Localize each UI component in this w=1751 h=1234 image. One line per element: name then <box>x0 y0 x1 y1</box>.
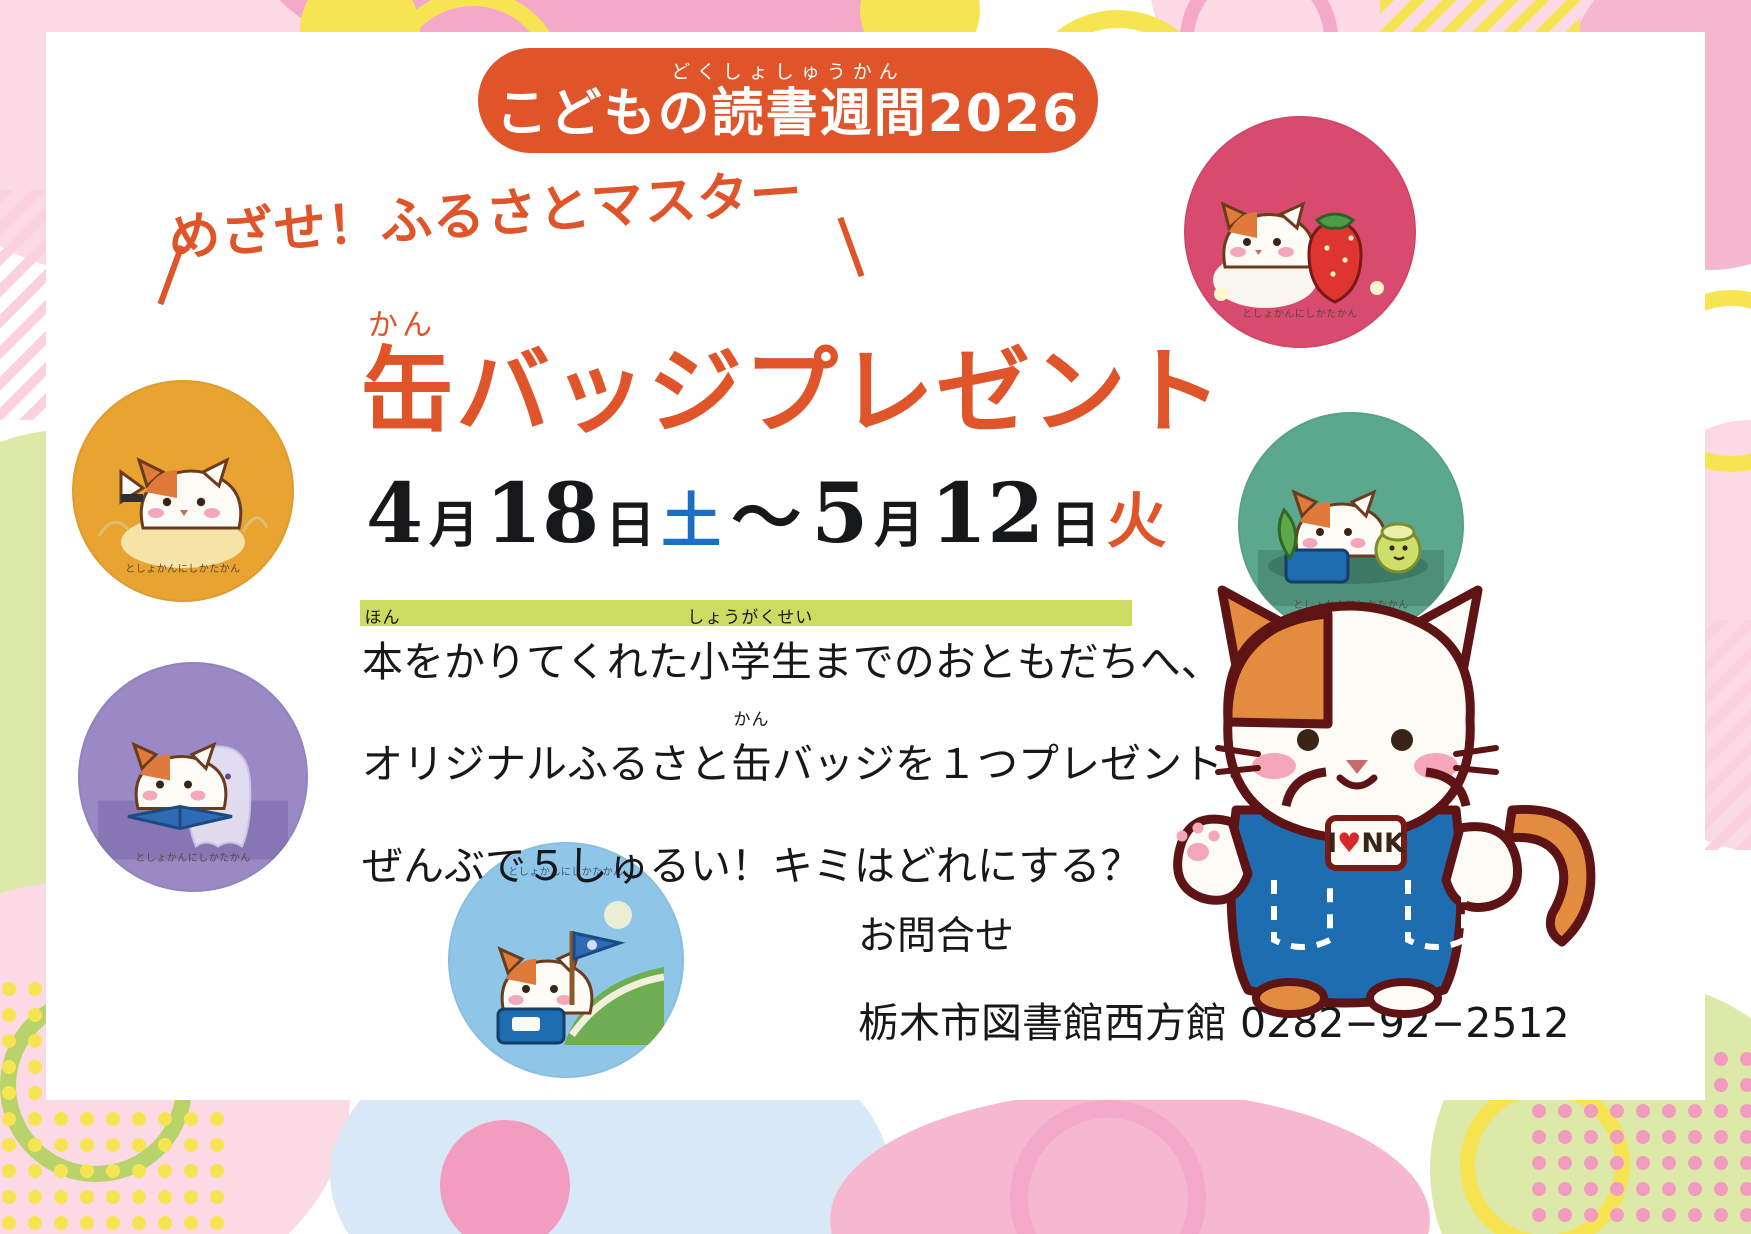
start-day: 18 <box>485 466 599 562</box>
ruby-group-hon: ほん 本 <box>362 628 403 688</box>
kanji-kan: 缶 <box>731 740 772 788</box>
body-line-2-head: オリジナルふるさと <box>362 740 731 788</box>
body-line-3: ぜんぶで５しゅるい！キミはどれにする？ <box>362 832 1182 892</box>
badge-caption: としょかんにしかたかん <box>72 560 294 575</box>
start-month: 4 <box>366 466 423 562</box>
ghost-cat-art <box>98 704 288 859</box>
badge-caption: としょかんにしかたかん <box>78 849 308 864</box>
body-line-1: ほん 本 をかりてくれた しょうがくせい 小学生 までのおともだちへ、 <box>362 628 1182 688</box>
strawberry-cat-art <box>1205 162 1395 312</box>
headline-block: かん 缶バッジプレゼント <box>360 300 1224 443</box>
overalls-badge-text: I♥NK <box>1327 828 1406 859</box>
end-weekday: 火 <box>1106 473 1166 560</box>
ruby-group-kan: かん 缶 <box>731 730 772 790</box>
poster-canvas: どくしょしゅうかん こどもの読書週間2026 めざせ！ふるさとマスター かん 缶… <box>0 0 1751 1234</box>
furigana-hon: ほん <box>365 603 401 628</box>
title-furigana: どくしょしゅうかん <box>478 57 1098 84</box>
body-line-2: オリジナルふるさと かん 缶 バッジを１つプレゼント！ <box>362 730 1182 790</box>
kanji-shougakusei: 小学生 <box>689 638 812 686</box>
month-unit: 月 <box>429 485 479 557</box>
furigana-shougakusei: しょうがくせい <box>687 603 813 628</box>
badge-rice: としょかんにしかたかん <box>72 380 294 602</box>
poster-title-banner: どくしょしゅうかん こどもの読書週間2026 <box>478 48 1098 153</box>
end-month: 5 <box>811 466 868 562</box>
headline-text: 缶バッジプレゼント <box>360 344 1224 443</box>
onigiri-cat-art <box>93 420 273 570</box>
kanji-hon: 本 <box>362 638 403 686</box>
month-unit: 月 <box>874 485 924 557</box>
body-text-block: ほん 本 をかりてくれた しょうがくせい 小学生 までのおともだちへ、 オリジナ… <box>362 628 1182 934</box>
event-date: 4 月 18 日 土 〜 5 月 12 日 火 <box>366 462 1166 563</box>
start-weekday: 土 <box>661 473 721 560</box>
furigana-kan: かん <box>734 705 770 730</box>
day-unit: 日 <box>1050 485 1100 557</box>
end-day: 12 <box>930 466 1044 562</box>
ruby-group-shougakusei: しょうがくせい 小学生 <box>689 628 812 688</box>
library-cat-mascot: I♥NK <box>1140 560 1610 1030</box>
date-separator: 〜 <box>731 462 801 563</box>
day-unit: 日 <box>605 485 655 557</box>
catch-copy: めざせ！ふるさとマスター <box>168 196 804 271</box>
badge-ghost: としょかんにしかたかん <box>78 662 308 892</box>
body-line-1-mid: をかりてくれた <box>403 638 689 686</box>
